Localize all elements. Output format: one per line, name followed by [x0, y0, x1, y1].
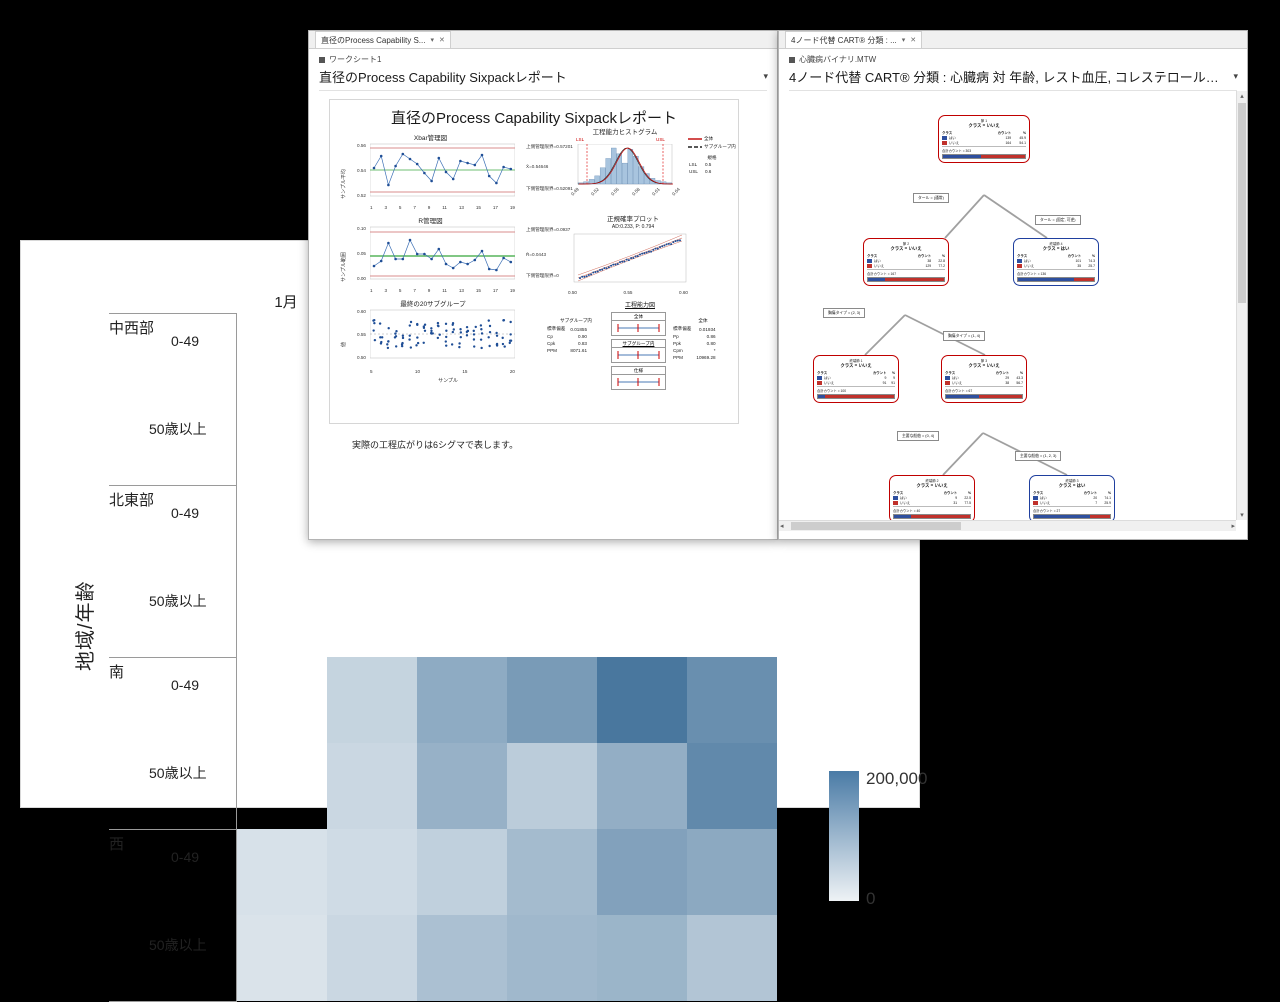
xbar-xtick-1: 3: [384, 205, 387, 213]
xbar-xtick-2: 5: [399, 205, 402, 213]
cart-node-table: クラスカウント%はい10174.3いいえ3525.7: [1017, 253, 1095, 268]
capability-band-2: 仕様: [611, 366, 666, 390]
cart-node-row: いいえ725.9: [1033, 500, 1111, 505]
rchart-xtick-6: 13: [459, 288, 464, 296]
cart-node-table: クラスカウント%はい922.5いいえ3177.5: [893, 490, 971, 505]
xbar-lcl-label: 下側管理限界=0.52091: [526, 186, 573, 192]
capability-band-0: 全体: [611, 312, 666, 336]
last20-ytick-2: 0.50: [357, 355, 366, 360]
heatmap-group-label-2: 南: [109, 661, 124, 682]
heatmap-cell: [327, 657, 417, 743]
cart-node-bar: [817, 394, 895, 399]
histogram-legend-within: サブグループ内: [704, 144, 736, 150]
scroll-right-icon[interactable]: ▸: [1231, 522, 1235, 530]
last20-x-axis-label: サンプル: [368, 377, 528, 384]
capability-within-row: Cp0.90: [547, 334, 590, 339]
capability-band-label: 仕様: [611, 366, 666, 375]
capability-within-table: 標準偏差0.01855Cp0.90Cpk0.83PPM8071.61: [545, 324, 592, 355]
pcap-footnote: 実際の工程広がりは6シグマで表します。: [352, 438, 518, 451]
rchart-ytick-1: 0.05: [357, 251, 366, 256]
rchart-ytick-2: 0.00: [357, 276, 366, 281]
heatmap-cell: [417, 829, 507, 915]
cart-split-split-vessel-123[interactable]: 主要な船舶 = (1, 2, 3): [1015, 451, 1061, 461]
capability-within-row: 標準偏差0.01855: [547, 326, 590, 332]
last20-panel: 最終の20サブグループ 値 0.600.550.50 5101520 サンプル: [338, 298, 528, 384]
heatmap-subrow-label-3-0: 0-49: [171, 849, 199, 865]
class-color-swatch: [1017, 264, 1022, 267]
heatmap-group-separator-3: [109, 829, 237, 830]
heatmap-subrow-label-3-1: 50歳以上: [149, 935, 207, 955]
cart-node-row: いいえ9191: [817, 380, 895, 385]
class-color-swatch: [942, 141, 947, 144]
heatmap-legend-min: 0: [866, 889, 875, 909]
cart-node-bar: [867, 277, 945, 282]
heatmap-cell: [417, 657, 507, 743]
class-color-swatch: [945, 381, 950, 384]
cart-node-row: いいえ3177.5: [893, 500, 971, 505]
xbar-chart-panel: Xbar管理図 サンプル平均 0.560.540.52 135791113151…: [338, 132, 523, 213]
xbar-y-axis-label: サンプル平均: [340, 169, 347, 199]
cart-node-term1[interactable]: 終端節 1クラス = いいえクラスカウント%はい99いいえ9191合計カウント …: [813, 355, 899, 403]
histogram-spec-table: LSL0.5USL0.6: [688, 161, 712, 175]
legend-within-line-icon: [688, 145, 702, 149]
cart-node-class: クラス = はい: [1033, 483, 1111, 489]
heatmap-cell: [507, 743, 597, 829]
cart-hscroll-thumb[interactable]: [791, 522, 961, 530]
rchart-xtick-4: 9: [428, 288, 431, 296]
cart-node-node1[interactable]: 節 1クラス = いいえクラスカウント%はい13945.9いいえ16454.1合…: [938, 115, 1030, 163]
pcap-report-canvas: 直径のProcess Capability Sixpackレポート Xbar管理…: [329, 99, 739, 424]
heatmap-cell: [597, 657, 687, 743]
xbar-xtick-9: 19: [510, 205, 515, 213]
rchart-x-ticks: 135791113151719: [370, 288, 515, 296]
cart-horizontal-scrollbar[interactable]: ◂ ▸: [779, 520, 1236, 531]
capability-overall-row: PPM10969.28: [673, 355, 719, 360]
cart-split-split-chest-23[interactable]: 胸痛タイプ = (2, 3): [823, 308, 865, 318]
last20-ytick-0: 0.60: [357, 309, 366, 314]
rchart-center-label: R̄=0.0443: [526, 252, 546, 257]
cart-node-row: いいえ12977.2: [867, 263, 945, 268]
heatmap-cell: [327, 743, 417, 829]
cart-node-bar: [1033, 514, 1111, 519]
cart-body: 節 1クラス = いいえクラスカウント%はい13945.9いいえ16454.1合…: [779, 91, 1247, 531]
capability-panel: 工程能力図 サブグループ内 標準偏差0.01855Cp0.90Cpk0.83PP…: [545, 300, 735, 400]
xbar-ucl-label: 上側管理限界=0.57201: [526, 144, 573, 150]
rchart-xtick-0: 1: [370, 288, 373, 296]
cart-node-table: クラスカウント%はい2943.3いいえ3856.7: [945, 370, 1023, 385]
capability-title: 工程能力図: [545, 300, 735, 309]
cart-node-node3[interactable]: 節 3クラス = いいえクラスカウント%はい2943.3いいえ3856.7合計カ…: [941, 355, 1027, 403]
pcap-header: ワークシート1 直径のProcess Capability Sixpackレポー…: [309, 49, 777, 90]
heatmap-cell: [507, 657, 597, 743]
cart-node-class: クラス = いいえ: [817, 363, 895, 369]
last20-plot: [370, 309, 515, 365]
capability-bands: 全体サブグループ内仕様: [611, 312, 666, 393]
probplot-subtitle: AD:0.233, P: 0.794: [568, 224, 698, 230]
cart-node-row: いいえ3856.7: [945, 380, 1023, 385]
xbar-xtick-6: 13: [459, 205, 464, 213]
heatmap-cell: [597, 743, 687, 829]
capability-within-block: サブグループ内 標準偏差0.01855Cp0.90Cpk0.83PPM8071.…: [545, 318, 607, 355]
cart-options-caret-icon[interactable]: ▾: [1233, 71, 1238, 82]
pcap-source-label: ワークシート1: [329, 54, 381, 65]
cart-node-total: 合計カウント = 167: [867, 269, 945, 276]
histogram-legend: 全体 サブグループ内 規格 LSL0.5USL0.6: [688, 136, 736, 175]
xbar-xtick-7: 15: [476, 205, 481, 213]
cart-tabstrip: 4ノード代替 CART® 分類 : ... ▾ ✕: [779, 31, 1247, 49]
histogram-usl-marker: USL: [656, 137, 665, 142]
probplot-xtick-2: 0.60: [679, 290, 688, 300]
capability-within-row: PPM8071.61: [547, 348, 590, 353]
capability-band-graphic: [611, 321, 666, 336]
class-color-swatch: [817, 381, 822, 384]
cart-node-total: 合計カウント = 27: [1033, 506, 1111, 513]
pcap-report-title: 直径のProcess Capability Sixpackレポート: [330, 107, 738, 128]
heatmap-cell: [687, 743, 777, 829]
xbar-plot: [370, 143, 515, 201]
worksheet-icon: [319, 57, 325, 63]
heatmap-cell: [597, 829, 687, 915]
heatmap-group-separator-1: [109, 485, 237, 486]
rchart-xtick-9: 19: [510, 288, 515, 296]
cart-node-bar: [945, 394, 1023, 399]
chevron-down-icon[interactable]: ▾: [430, 36, 434, 44]
cart-tree-canvas: 節 1クラス = いいえクラスカウント%はい13945.9いいえ16454.1合…: [785, 93, 1233, 523]
xbar-xtick-3: 7: [413, 205, 416, 213]
chevron-down-icon[interactable]: ▾: [902, 36, 906, 44]
cart-node-total: 合計カウント = 100: [817, 386, 895, 393]
capability-band-graphic: [611, 348, 666, 363]
cart-split-split-chest-14[interactable]: 胸痛タイプ = (1, 4): [943, 331, 985, 341]
cart-node-class: クラス = いいえ: [893, 483, 971, 489]
cart-split-split-thal-normal[interactable]: タール = (通常): [913, 193, 949, 203]
heatmap-cell: [417, 743, 507, 829]
xbar-xtick-4: 9: [428, 205, 431, 213]
class-color-swatch: [1033, 501, 1038, 504]
cart-node-table: クラスカウント%はい13945.9いいえ16454.1: [942, 130, 1026, 145]
histogram-legend-overall: 全体: [704, 136, 713, 142]
pcap-window-title: 直径のProcess Capability Sixpackレポート: [319, 67, 767, 86]
last20-y-ticks: 0.600.550.50: [346, 309, 368, 361]
heatmap-cell: [327, 829, 417, 915]
rchart-xtick-7: 15: [476, 288, 481, 296]
pcap-tab-label: 直径のProcess Capability S...: [321, 35, 425, 46]
heatmap-cell: [237, 915, 327, 1001]
rchart-ytick-0: 0.10: [357, 226, 366, 231]
class-color-swatch: [893, 501, 898, 504]
xbar-center-label: X̄=0.54646: [526, 164, 548, 169]
last20-xtick-3: 20: [510, 369, 515, 377]
rchart-xtick-2: 5: [399, 288, 402, 296]
scroll-left-icon[interactable]: ◂: [780, 522, 784, 530]
pcap-tabstrip: 直径のProcess Capability S... ▾ ✕: [309, 31, 777, 49]
last20-x-ticks: 5101520: [370, 369, 515, 377]
cart-node-total: 合計カウント = 67: [945, 386, 1023, 393]
capability-overall-table: 標準偏差0.01934Pp0.86Ppk0.80Cpm*PPM10969.28: [671, 324, 721, 362]
rchart-xtick-5: 11: [442, 288, 447, 296]
heatmap-cell: [417, 915, 507, 1001]
cart-node-total: 合計カウント = 40: [893, 506, 971, 513]
cart-node-node2[interactable]: 節 2クラス = いいえクラスカウント%はい3822.8いいえ12977.2合計…: [863, 238, 949, 286]
capability-band-1: サブグループ内: [611, 339, 666, 363]
close-icon[interactable]: ✕: [910, 36, 916, 44]
cart-node-class: クラス = いいえ: [867, 246, 945, 252]
capability-overall-row: Cpm*: [673, 348, 719, 353]
cart-node-row: いいえ16454.1: [942, 140, 1026, 145]
heatmap-group-separator-0: [109, 313, 237, 314]
cart-window[interactable]: 4ノード代替 CART® 分類 : ... ▾ ✕ 心臓病バイナリ.MTW 4ノ…: [778, 30, 1248, 540]
rchart-panel: R管理図 サンプル範囲 0.100.050.00 135791113151719: [338, 215, 523, 296]
spec-row: LSL0.5: [688, 161, 712, 168]
heatmap-subrow-label-0-0: 0-49: [171, 333, 199, 349]
heatmap-group-label-3: 西: [109, 833, 124, 854]
heatmap-cell: [597, 915, 687, 1001]
histogram-x-ticks: 0.490.520.550.580.610.64: [570, 193, 680, 205]
spec-row: USL0.6: [688, 168, 712, 175]
pcap-body: 直径のProcess Capability Sixpackレポート Xbar管理…: [309, 91, 777, 531]
heatmap-group-label-1: 北東部: [109, 489, 154, 510]
rchart-y-axis-label: サンプル範囲: [340, 252, 347, 282]
last20-xtick-1: 10: [415, 369, 420, 377]
last20-xtick-0: 5: [370, 369, 373, 377]
cart-header: 心臓病バイナリ.MTW 4ノード代替 CART® 分類 : 心臓病 対 年齢, …: [779, 49, 1247, 90]
heatmap-subrow-label-0-1: 50歳以上: [149, 419, 207, 439]
histogram-panel: 工程能力ヒストグラム LSL USL 0.490.520.550.580.610…: [570, 126, 680, 205]
heatmap-legend-gradient: [829, 771, 859, 901]
pcap-tab[interactable]: 直径のProcess Capability S... ▾ ✕: [315, 31, 451, 48]
class-color-swatch: [867, 264, 872, 267]
xbar-chart-title: Xbar管理図: [338, 132, 523, 142]
histogram-title: 工程能力ヒストグラム: [570, 126, 680, 136]
probplot-x-ticks: 0.500.550.60: [568, 290, 688, 300]
probplot-xtick-1: 0.55: [624, 290, 633, 300]
heatmap-group-label-0: 中西部: [109, 317, 154, 338]
capability-overall-row: Ppk0.80: [673, 341, 719, 346]
legend-overall-line-icon: [688, 137, 702, 141]
cart-node-row: いいえ3525.7: [1017, 263, 1095, 268]
cart-source-label: 心臓病バイナリ.MTW: [799, 54, 876, 65]
cart-node-bar: [942, 154, 1026, 159]
cart-node-table: クラスカウント%はい99いいえ9191: [817, 370, 895, 385]
heatmap-cell: [327, 915, 417, 1001]
xbar-ytick-2: 0.52: [357, 193, 366, 198]
capability-band-label: 全体: [611, 312, 666, 321]
capability-band-graphic: [611, 375, 666, 390]
pcap-options-caret-icon[interactable]: ▾: [763, 71, 768, 82]
cart-tab[interactable]: 4ノード代替 CART® 分類 : ... ▾ ✕: [785, 31, 922, 48]
heatmap-cell: [687, 915, 777, 1001]
cart-node-bar: [893, 514, 971, 519]
xbar-x-ticks: 135791113151719: [370, 205, 515, 213]
heatmap-cell: [507, 829, 597, 915]
pcap-source: ワークシート1: [319, 54, 767, 65]
cart-node-class: クラス = はい: [1017, 246, 1095, 252]
xbar-xtick-5: 11: [442, 205, 447, 213]
cart-node-term2[interactable]: 終端節 2クラス = いいえクラスカウント%はい922.5いいえ3177.5合計…: [889, 475, 975, 523]
heatmap-subrow-label-1-0: 0-49: [171, 505, 199, 521]
heatmap-cell: [237, 829, 327, 915]
heatmap-cell: [507, 915, 597, 1001]
xbar-xtick-8: 17: [493, 205, 498, 213]
cart-node-node4[interactable]: 終端節 4クラス = はいクラスカウント%はい10174.3いいえ3525.7合…: [1013, 238, 1099, 286]
process-capability-window[interactable]: 直径のProcess Capability S... ▾ ✕ ワークシート1 直…: [308, 30, 778, 540]
rchart-xtick-3: 7: [413, 288, 416, 296]
histogram-xtick-5: 0.64: [671, 187, 686, 202]
cart-node-term3[interactable]: 終端節 3クラス = はいクラスカウント%はい2074.1いいえ725.9合計カ…: [1029, 475, 1115, 523]
heatmap-legend-max: 200,000: [866, 769, 927, 789]
probplot-xtick-0: 0.50: [568, 290, 577, 300]
capability-within-row: Cpk0.83: [547, 341, 590, 346]
capability-overall-block: 全体 標準偏差0.01934Pp0.86Ppk0.80Cpm*PPM10969.…: [671, 318, 735, 362]
heatmap-subrow-label-1-1: 50歳以上: [149, 591, 207, 611]
xbar-ytick-1: 0.54: [357, 168, 366, 173]
probplot-panel: 正規確率プロット AD:0.233, P: 0.794 0.500.550.60: [568, 213, 698, 300]
rchart-plot: [370, 226, 515, 284]
cart-vertical-scrollbar[interactable]: ▴ ▾: [1236, 91, 1247, 520]
capability-band-label: サブグループ内: [611, 339, 666, 348]
cart-source: 心臓病バイナリ.MTW: [789, 54, 1237, 65]
probplot-title: 正規確率プロット: [568, 213, 698, 223]
histogram-plot: [570, 144, 678, 192]
heatmap-y-axis-title: 地域/年齢: [69, 580, 98, 671]
cart-node-table: クラスカウント%はい3822.8いいえ12977.2: [867, 253, 945, 268]
last20-xtick-2: 15: [462, 369, 467, 377]
capability-overall-row: 標準偏差0.01934: [673, 326, 719, 332]
rchart-xtick-1: 3: [384, 288, 387, 296]
heatmap-subrow-label-2-1: 50歳以上: [149, 763, 207, 783]
cart-window-title: 4ノード代替 CART® 分類 : 心臓病 対 年齢, レスト血圧, コレステロ…: [789, 67, 1237, 86]
worksheet-icon: [789, 57, 795, 63]
rchart-ucl-label: 上側管理限界=0.0937: [526, 227, 570, 233]
cart-node-total: 合計カウント = 303: [942, 146, 1026, 153]
cart-node-total: 合計カウント = 136: [1017, 269, 1095, 276]
cart-node-table: クラスカウント%はい2074.1いいえ725.9: [1033, 490, 1111, 505]
heatmap-cell: [687, 657, 777, 743]
cart-tab-label: 4ノード代替 CART® 分類 : ...: [791, 35, 897, 46]
scroll-up-icon[interactable]: ▴: [1237, 92, 1247, 100]
heatmap-group-separator-2: [109, 657, 237, 658]
cart-node-bar: [1017, 277, 1095, 282]
capability-overall-row: Pp0.86: [673, 334, 719, 339]
rchart-title: R管理図: [338, 215, 523, 225]
last20-title: 最終の20サブグループ: [338, 298, 528, 308]
close-icon[interactable]: ✕: [439, 36, 445, 44]
cart-split-split-thal-fixed[interactable]: タール = (固定, 可逆): [1035, 215, 1081, 225]
cart-node-class: クラス = いいえ: [942, 123, 1026, 129]
xbar-ytick-0: 0.56: [357, 143, 366, 148]
heatmap-subrow-label-2-0: 0-49: [171, 677, 199, 693]
cart-split-split-vessel-04[interactable]: 主要な船舶 = (0, 4): [897, 431, 939, 441]
xbar-xtick-0: 1: [370, 205, 373, 213]
histogram-lsl-marker: LSL: [576, 137, 584, 142]
xbar-y-ticks: 0.560.540.52: [348, 143, 368, 199]
probplot-plot: [568, 232, 688, 285]
last20-ytick-1: 0.55: [357, 332, 366, 337]
rchart-lcl-label: 下側管理限界=0: [526, 273, 559, 279]
rchart-y-ticks: 0.100.050.00: [348, 226, 368, 282]
scroll-down-icon[interactable]: ▾: [1237, 511, 1247, 519]
rchart-xtick-8: 17: [493, 288, 498, 296]
heatmap-cell: [687, 829, 777, 915]
cart-node-class: クラス = いいえ: [945, 363, 1023, 369]
cart-vscroll-thumb[interactable]: [1238, 103, 1246, 303]
